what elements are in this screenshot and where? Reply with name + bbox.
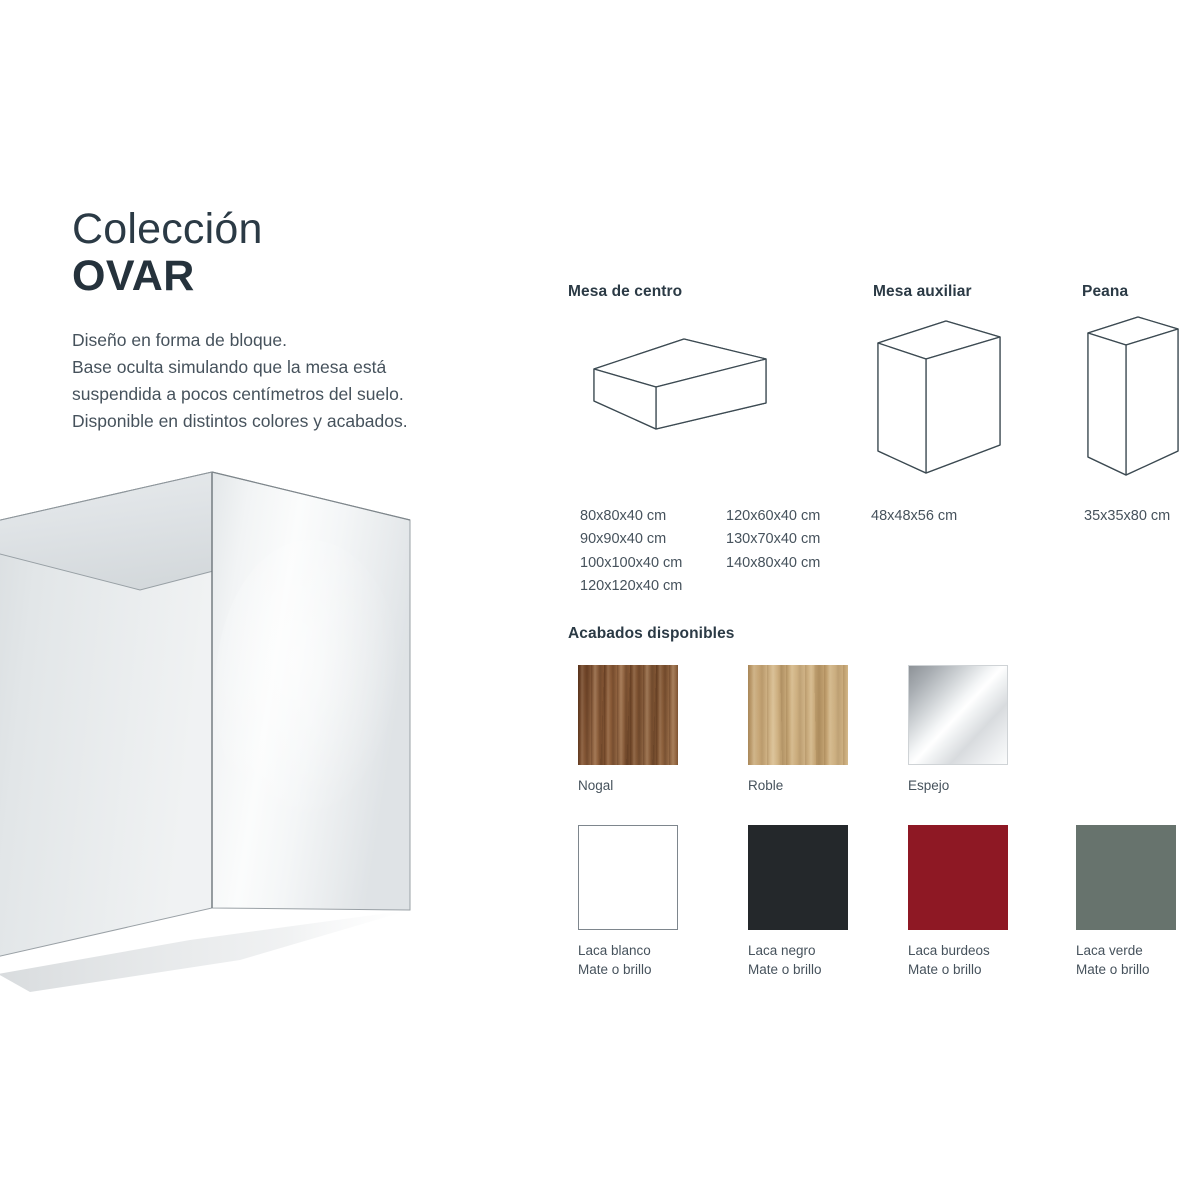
dimension-item: 120x60x40 cm — [726, 505, 820, 528]
finish-name: Laca burdeos — [908, 942, 1018, 961]
finish-label: Laca negro Mate o brillo — [748, 942, 858, 979]
finishes-row-lacquers: Laca blanco Mate o brillo Laca negro Mat… — [568, 825, 1188, 985]
finish-label: Laca verde Mate o brillo — [1076, 942, 1186, 979]
collection-name: OVAR — [72, 254, 512, 299]
description-line: Disponible en distintos colores y acabad… — [72, 408, 512, 435]
oak-wood-swatch — [748, 665, 848, 765]
finish-name: Laca blanco — [578, 942, 688, 961]
finish-option-espejo[interactable]: Espejo — [908, 665, 1018, 796]
finish-label: Roble — [748, 777, 858, 796]
finish-sublabel: Mate o brillo — [578, 961, 688, 980]
mesa-de-centro-drawing — [576, 325, 776, 450]
finish-sublabel: Mate o brillo — [748, 961, 858, 980]
finish-option-nogal[interactable]: Nogal — [578, 665, 688, 796]
finish-sublabel: Mate o brillo — [908, 961, 1018, 980]
dimension-item: 140x80x40 cm — [726, 552, 820, 575]
finish-label: Espejo — [908, 777, 1018, 796]
dimensions-mesa-de-centro-col2: 120x60x40 cm 130x70x40 cm 140x80x40 cm — [726, 505, 820, 575]
collection-intro: Colección OVAR Diseño en forma de bloque… — [72, 208, 512, 436]
finish-option-laca-negro[interactable]: Laca negro Mate o brillo — [748, 825, 858, 979]
finishes-row-materials: Nogal Roble Espejo — [568, 665, 1188, 825]
dimension-item: 35x35x80 cm — [1084, 505, 1170, 528]
dimension-item: 100x100x40 cm — [580, 552, 682, 575]
finish-name: Laca negro — [748, 942, 858, 961]
lacquer-black-swatch — [748, 825, 848, 930]
finishes-section: Acabados disponibles Nogal Roble Espejo … — [568, 625, 1188, 985]
collection-description: Diseño en forma de bloque. Base oculta s… — [72, 327, 512, 436]
finish-option-roble[interactable]: Roble — [748, 665, 858, 796]
dimensions-peana: 35x35x80 cm — [1084, 505, 1170, 528]
dimension-item: 48x48x56 cm — [871, 505, 957, 528]
dimensions-mesa-de-centro-col1: 80x80x40 cm 90x90x40 cm 100x100x40 cm 12… — [580, 505, 682, 599]
mirror-glass-swatch — [908, 665, 1008, 765]
finish-label: Nogal — [578, 777, 688, 796]
walnut-wood-swatch — [578, 665, 678, 765]
finish-label: Laca blanco Mate o brillo — [578, 942, 688, 979]
dimension-item: 120x120x40 cm — [580, 575, 682, 598]
dimension-item: 90x90x40 cm — [580, 528, 682, 551]
finish-option-laca-burdeos[interactable]: Laca burdeos Mate o brillo — [908, 825, 1018, 979]
description-line: Base oculta simulando que la mesa está — [72, 354, 512, 381]
dimension-item: 80x80x40 cm — [580, 505, 682, 528]
description-line: Diseño en forma de bloque. — [72, 327, 512, 354]
lacquer-burgundy-swatch — [908, 825, 1008, 930]
finish-sublabel: Mate o brillo — [1076, 961, 1186, 980]
product-title-mesa-auxiliar: Mesa auxiliar — [873, 283, 972, 301]
dimension-item: 130x70x40 cm — [726, 528, 820, 551]
mirrored-cube-photo — [0, 440, 460, 1000]
description-line: suspendida a pocos centímetros del suelo… — [72, 381, 512, 408]
lacquer-green-swatch — [1076, 825, 1176, 930]
product-title-peana: Peana — [1082, 283, 1128, 301]
product-title-mesa-de-centro: Mesa de centro — [568, 283, 682, 301]
finishes-title: Acabados disponibles — [568, 625, 1188, 643]
finish-label: Laca burdeos Mate o brillo — [908, 942, 1018, 979]
finish-name: Laca verde — [1076, 942, 1186, 961]
finish-option-laca-verde[interactable]: Laca verde Mate o brillo — [1076, 825, 1186, 979]
peana-drawing — [1076, 311, 1200, 491]
finish-option-laca-blanco[interactable]: Laca blanco Mate o brillo — [578, 825, 688, 979]
dimensions-mesa-auxiliar: 48x48x56 cm — [871, 505, 957, 528]
lacquer-white-swatch — [578, 825, 678, 930]
collection-label: Colección — [72, 208, 512, 252]
mesa-auxiliar-drawing — [868, 311, 1018, 491]
